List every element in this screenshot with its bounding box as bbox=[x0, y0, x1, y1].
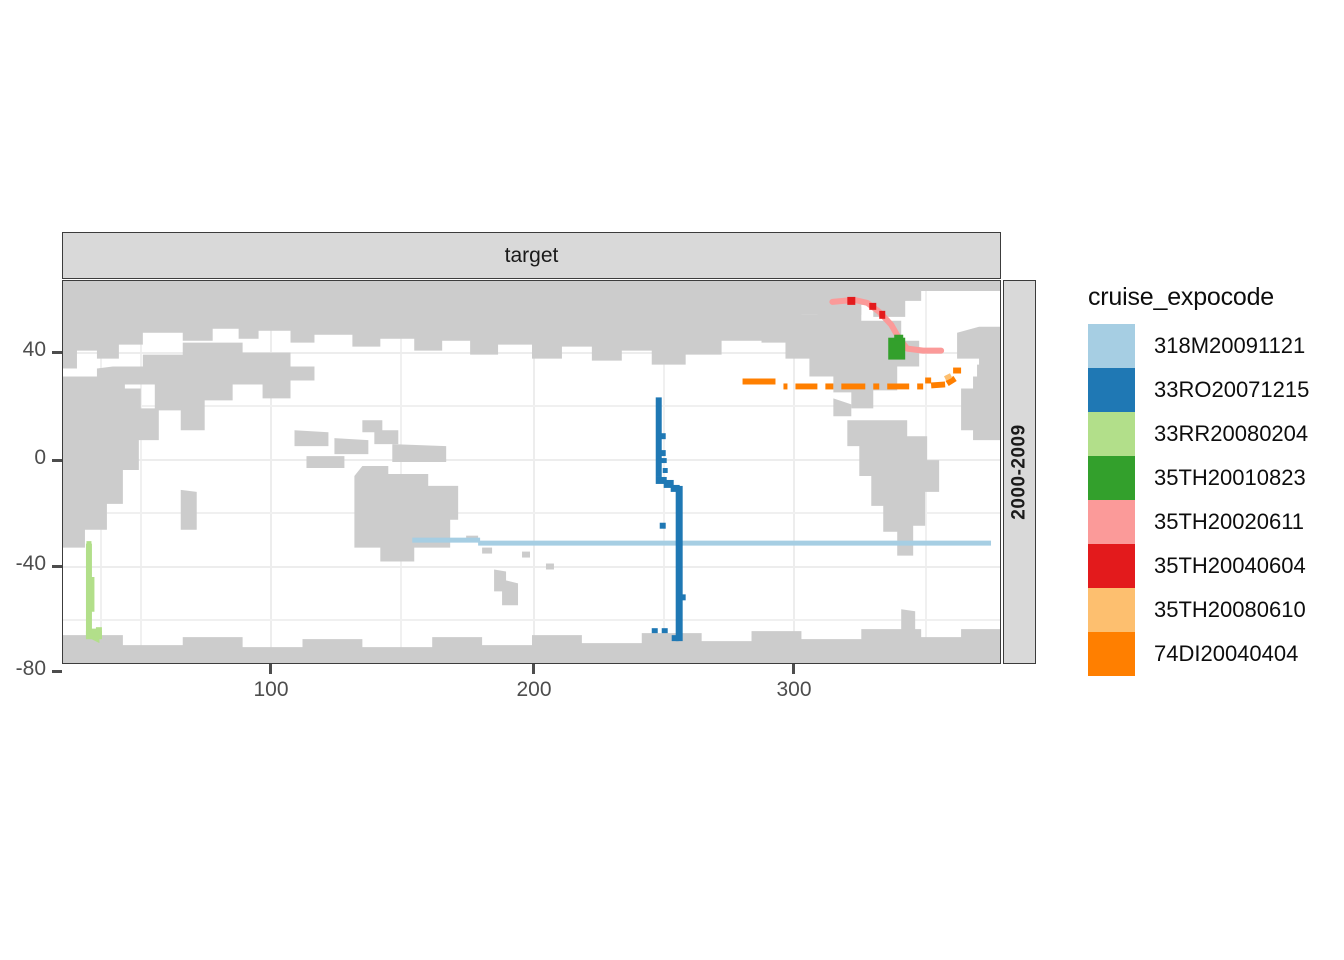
legend-item[interactable]: 35TH20020611 bbox=[1088, 500, 1338, 544]
legend-item[interactable]: 74DI20040404 bbox=[1088, 632, 1338, 676]
legend: cruise_expocode 318M20091121 33RO2007121… bbox=[1088, 283, 1338, 676]
legend-swatch-318M20091121 bbox=[1088, 324, 1135, 368]
legend-label: 35TH20080610 bbox=[1154, 597, 1306, 623]
legend-swatch-74DI20040404 bbox=[1088, 632, 1135, 676]
facet-strip-column-label: target bbox=[505, 244, 559, 268]
legend-swatch-35TH20080610 bbox=[1088, 588, 1135, 632]
facet-strip-row-label: 2000-2009 bbox=[1009, 424, 1031, 519]
track-35TH20020611 bbox=[832, 300, 941, 351]
x-tick-label: 300 bbox=[748, 678, 840, 702]
x-tick-mark bbox=[792, 664, 795, 674]
x-tick-mark bbox=[532, 664, 535, 674]
legend-item[interactable]: 318M20091121 bbox=[1088, 324, 1338, 368]
x-tick-mark bbox=[269, 664, 272, 674]
legend-swatch-35TH20040604 bbox=[1088, 544, 1135, 588]
track-35TH20010823 bbox=[888, 335, 905, 360]
y-tick-mark bbox=[52, 351, 62, 354]
facet-strip-column: target bbox=[62, 232, 1001, 279]
legend-swatch-33RR20080204 bbox=[1088, 412, 1135, 456]
legend-swatch-35TH20020611 bbox=[1088, 500, 1135, 544]
legend-label: 35TH20040604 bbox=[1154, 553, 1306, 579]
map-panel bbox=[62, 280, 1001, 664]
legend-item[interactable]: 33RO20071215 bbox=[1088, 368, 1338, 412]
y-tick-label: 40 bbox=[0, 338, 46, 362]
legend-label: 74DI20040404 bbox=[1154, 641, 1298, 667]
track-35TH20080610 bbox=[945, 376, 951, 379]
track-318M20091121 bbox=[412, 538, 991, 546]
map-panel-inner bbox=[63, 281, 1000, 663]
plot-root: target 2000-2009 bbox=[0, 0, 1344, 960]
legend-label: 35TH20010823 bbox=[1154, 465, 1306, 491]
legend-title: cruise_expocode bbox=[1088, 283, 1338, 312]
legend-item[interactable]: 35TH20080610 bbox=[1088, 588, 1338, 632]
track-74DI20040404 bbox=[743, 371, 962, 387]
legend-label: 35TH20020611 bbox=[1154, 509, 1304, 535]
legend-label: 318M20091121 bbox=[1154, 333, 1305, 359]
legend-swatch-33RO20071215 bbox=[1088, 368, 1135, 412]
track-33RO20071215 bbox=[652, 397, 686, 641]
legend-item[interactable]: 35TH20010823 bbox=[1088, 456, 1338, 500]
x-tick-label: 100 bbox=[225, 678, 317, 702]
legend-label: 33RO20071215 bbox=[1154, 377, 1309, 403]
cruise-track-layer bbox=[63, 281, 1000, 663]
y-tick-mark bbox=[52, 565, 62, 568]
legend-item[interactable]: 35TH20040604 bbox=[1088, 544, 1338, 588]
track-specks bbox=[853, 358, 858, 363]
y-tick-label: -80 bbox=[0, 657, 46, 681]
legend-item[interactable]: 33RR20080204 bbox=[1088, 412, 1338, 456]
legend-swatch-35TH20010823 bbox=[1088, 456, 1135, 500]
track-33RR20080204 bbox=[86, 544, 102, 640]
y-tick-label: 0 bbox=[0, 446, 46, 470]
facet-strip-row: 2000-2009 bbox=[1003, 280, 1036, 664]
y-tick-mark bbox=[52, 670, 62, 673]
y-tick-mark bbox=[52, 459, 62, 462]
x-tick-label: 200 bbox=[488, 678, 580, 702]
y-tick-label: -40 bbox=[0, 552, 46, 576]
legend-label: 33RR20080204 bbox=[1154, 421, 1308, 447]
